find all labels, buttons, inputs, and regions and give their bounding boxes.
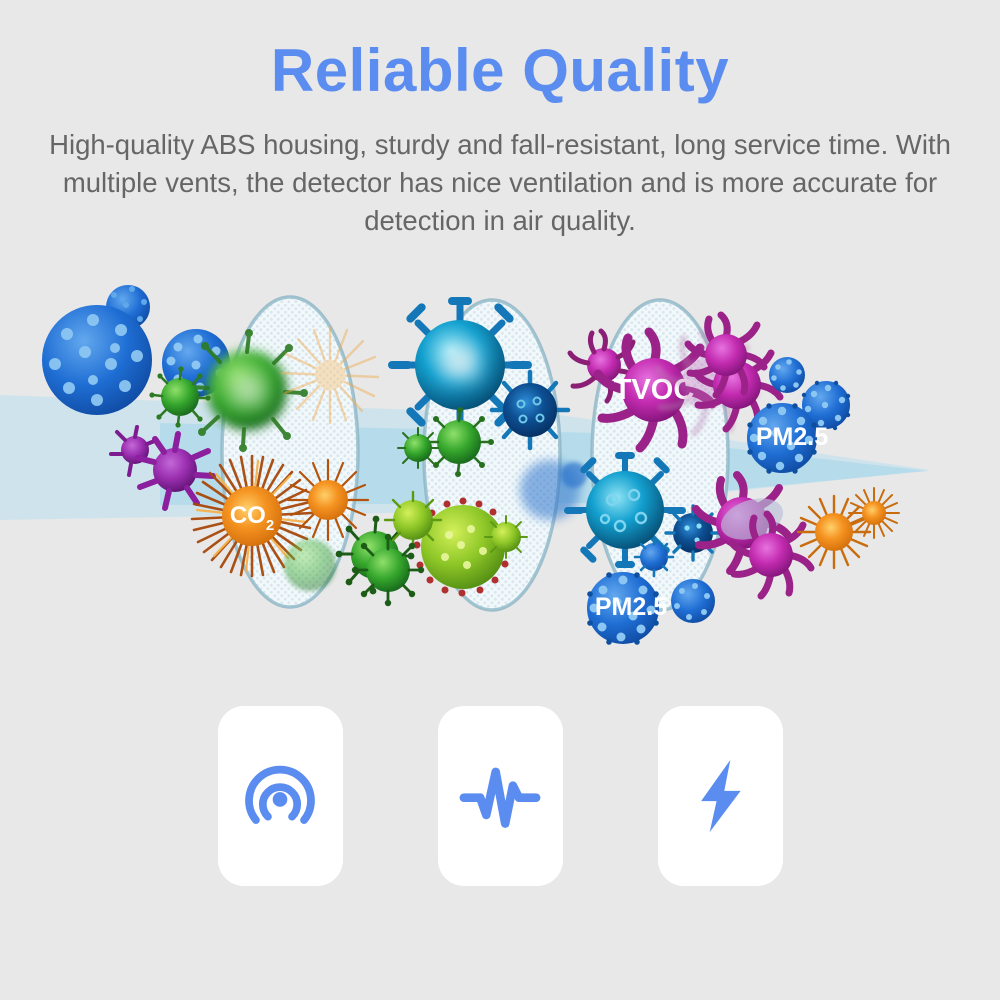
particle-cyan-corona: [564, 452, 686, 568]
page-title: Reliable Quality: [0, 38, 1000, 104]
particle-cyan-medium: [492, 372, 568, 448]
particle-blue-tiny: [635, 538, 673, 576]
particle-blue-large: [42, 305, 152, 415]
label-pm25-left: PM2.5: [595, 593, 667, 621]
feature-card-waveform-pulse[interactable]: [438, 706, 563, 886]
feature-icon-row: [0, 706, 1000, 886]
particle-blue-dot-cluster: [671, 579, 715, 623]
lightning-bolt-icon: [677, 753, 763, 839]
particle-orange-medium: [288, 460, 368, 540]
description-text: High-quality ABS housing, sturdy and fal…: [25, 126, 975, 240]
product-feature-banner: Reliable Quality High-quality ABS housin…: [0, 0, 1000, 1000]
feature-card-sensor-signal[interactable]: [218, 706, 343, 886]
feature-card-lightning-bolt[interactable]: [658, 706, 783, 886]
particle-blue-right-small: [666, 506, 720, 560]
particle-green-edge: [352, 534, 424, 606]
sensor-signal-icon: [237, 753, 323, 839]
particle-orange-right-small: [849, 488, 899, 538]
particle-green-cluster-b: [398, 428, 438, 468]
particle-blue-beam-small: [769, 357, 805, 393]
filtration-illustration: CO2: [0, 265, 1000, 665]
particle-green-cluster-a: [424, 407, 494, 477]
particle-lime-small: [485, 516, 527, 558]
particle-lime-medium: [385, 492, 441, 548]
waveform-pulse-icon: [457, 753, 543, 839]
particle-green-faded: [284, 539, 336, 591]
label-pm25-right: PM2.5: [756, 423, 828, 451]
